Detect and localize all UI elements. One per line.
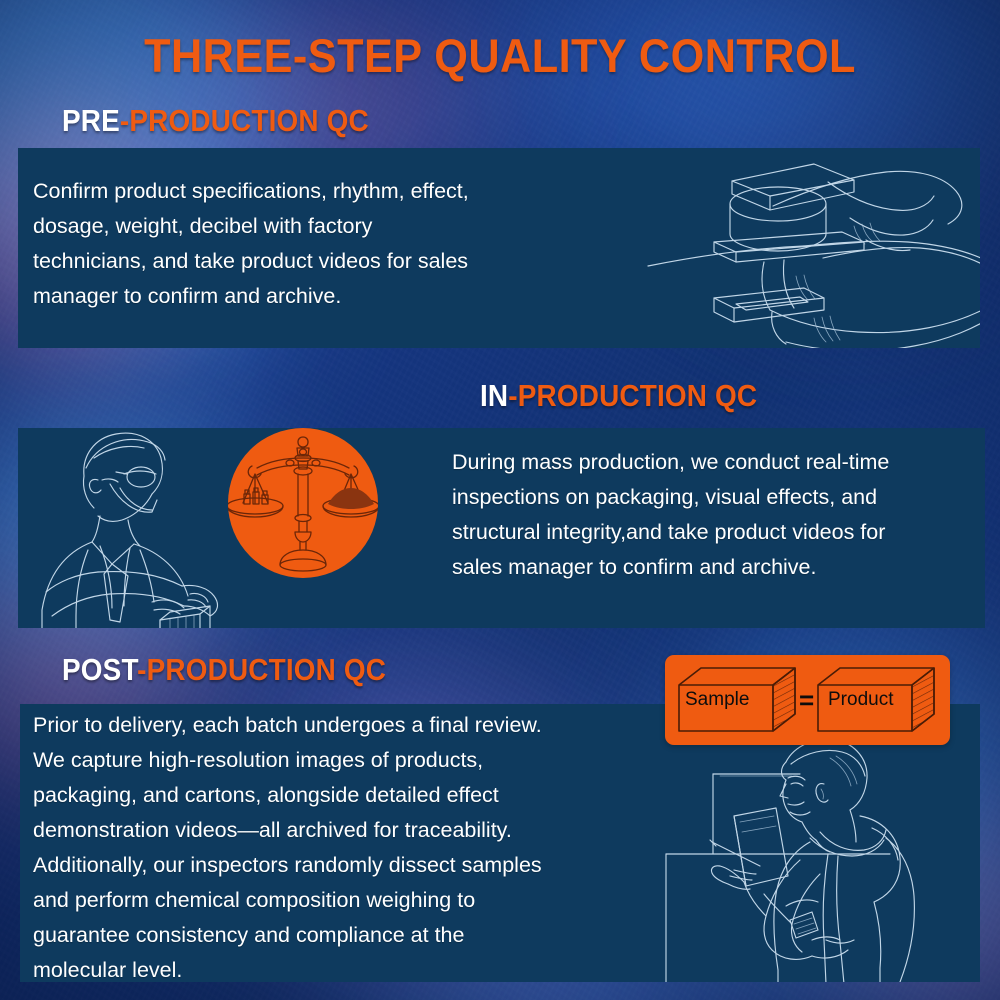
infographic-canvas: THREE-STEP QUALITY CONTROL PRE-PRODUCTIO… xyxy=(0,0,1000,1000)
balance-scale-badge xyxy=(228,428,378,578)
product-label: Product xyxy=(828,689,893,711)
step-2-panel: During mass production, we conduct real-… xyxy=(18,428,985,628)
step-3-panel: Prior to delivery, each batch undergoes … xyxy=(20,704,980,982)
step-1-heading-white: PRE xyxy=(62,103,120,138)
step-1-heading-orange: -PRODUCTION QC xyxy=(120,103,369,138)
step-2-heading-white: IN xyxy=(480,378,508,413)
step-2-body: During mass production, we conduct real-… xyxy=(452,445,985,585)
equals-label: = xyxy=(799,685,814,716)
step-2-heading: IN-PRODUCTION QC xyxy=(480,378,757,414)
step-1-panel: Confirm product specifications, rhythm, … xyxy=(18,148,980,348)
sample-label: Sample xyxy=(685,689,749,711)
step-3-body: Prior to delivery, each batch undergoes … xyxy=(33,708,673,982)
step-3-heading: POST-PRODUCTION QC xyxy=(62,652,386,688)
man-with-tablet-icon xyxy=(660,734,980,982)
step-3-heading-white: POST xyxy=(62,652,137,687)
balance-scale-icon xyxy=(228,428,378,578)
step-3-heading-orange: -PRODUCTION QC xyxy=(137,652,386,687)
page-title: THREE-STEP QUALITY CONTROL xyxy=(40,28,960,83)
hands-holding-product-icon xyxy=(618,148,980,348)
step-1-heading: PRE-PRODUCTION QC xyxy=(62,103,369,139)
step-1-body: Confirm product specifications, rhythm, … xyxy=(33,174,593,314)
step-2-heading-orange: -PRODUCTION QC xyxy=(508,378,757,413)
sample-equals-product-badge: Sample = Product xyxy=(665,655,950,745)
